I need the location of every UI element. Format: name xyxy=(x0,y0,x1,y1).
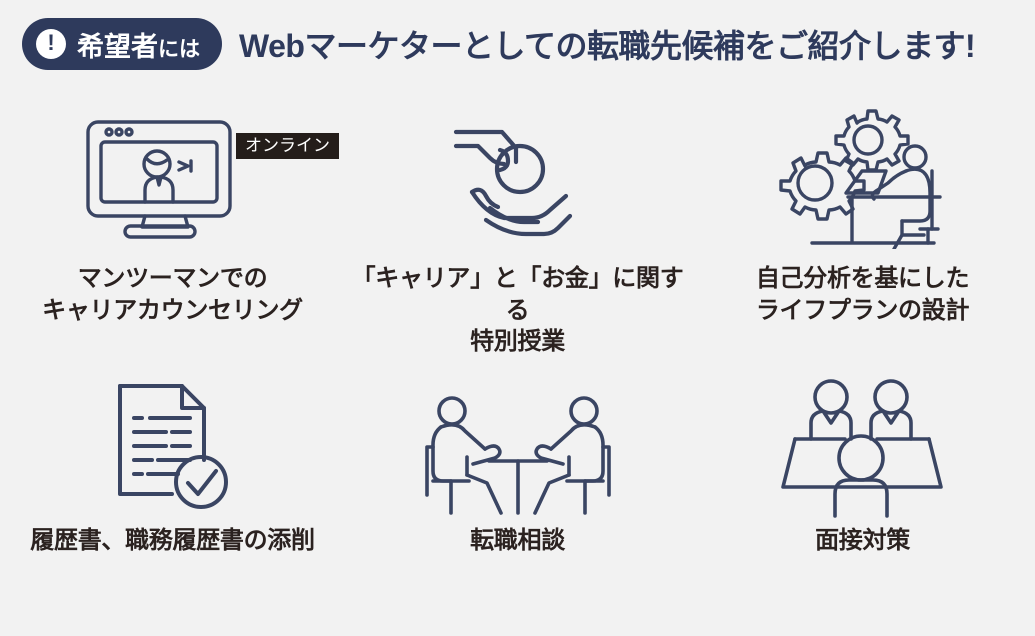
feature-caption: マンツーマンでの キャリアカウンセリング xyxy=(42,263,303,326)
feature-caption: 面接対策 xyxy=(815,525,910,557)
exclamation-icon: ! xyxy=(36,29,66,59)
badge-label: 希望者には xyxy=(77,25,200,64)
document-check-icon xyxy=(98,370,248,520)
feature-grid: オンライン マンツーマンでの キャリアカウンセリング 「キャリア」と「お金」に関… xyxy=(0,95,1035,635)
highlight-badge: ! 希望者には xyxy=(22,18,222,70)
two-people-table-icon xyxy=(423,375,613,515)
interview-panel-icon xyxy=(773,373,953,518)
icon-container: オンライン xyxy=(0,95,345,263)
gears-person-desk-icon xyxy=(760,109,965,249)
feature-caption: 履歴書、職務履歴書の添削 xyxy=(30,525,314,557)
exclamation-glyph: ! xyxy=(47,32,54,54)
icon-container xyxy=(345,95,690,263)
feature-card-interview-prep: 面接対策 xyxy=(690,365,1035,635)
feature-caption: 「キャリア」と「お金」に関する 特別授業 xyxy=(345,263,690,358)
icon-container xyxy=(345,365,690,525)
page-title: Webマーケターとしての転職先候補をご紹介します! xyxy=(239,21,975,67)
feature-card-online-counseling: オンライン マンツーマンでの キャリアカウンセリング xyxy=(0,95,345,365)
online-tag: オンライン xyxy=(236,133,339,159)
feature-card-job-consultation: 転職相談 xyxy=(345,365,690,635)
feature-card-special-lesson: 「キャリア」と「お金」に関する 特別授業 xyxy=(345,95,690,365)
icon-container xyxy=(690,365,1035,525)
badge-label-suffix: には xyxy=(158,38,200,61)
feature-card-resume-review: 履歴書、職務履歴書の添削 xyxy=(0,365,345,635)
icon-container xyxy=(0,365,345,525)
icon-container xyxy=(690,95,1035,263)
badge-label-main: 希望者 xyxy=(77,32,158,62)
hand-giving-coin-icon xyxy=(438,114,598,244)
feature-card-life-plan: 自己分析を基にした ライフプランの設計 xyxy=(690,95,1035,365)
feature-caption: 自己分析を基にした ライフプランの設計 xyxy=(756,263,969,326)
feature-caption: 転職相談 xyxy=(470,525,565,557)
header-banner: ! 希望者には Webマーケターとしての転職先候補をご紹介します! xyxy=(0,0,1035,88)
